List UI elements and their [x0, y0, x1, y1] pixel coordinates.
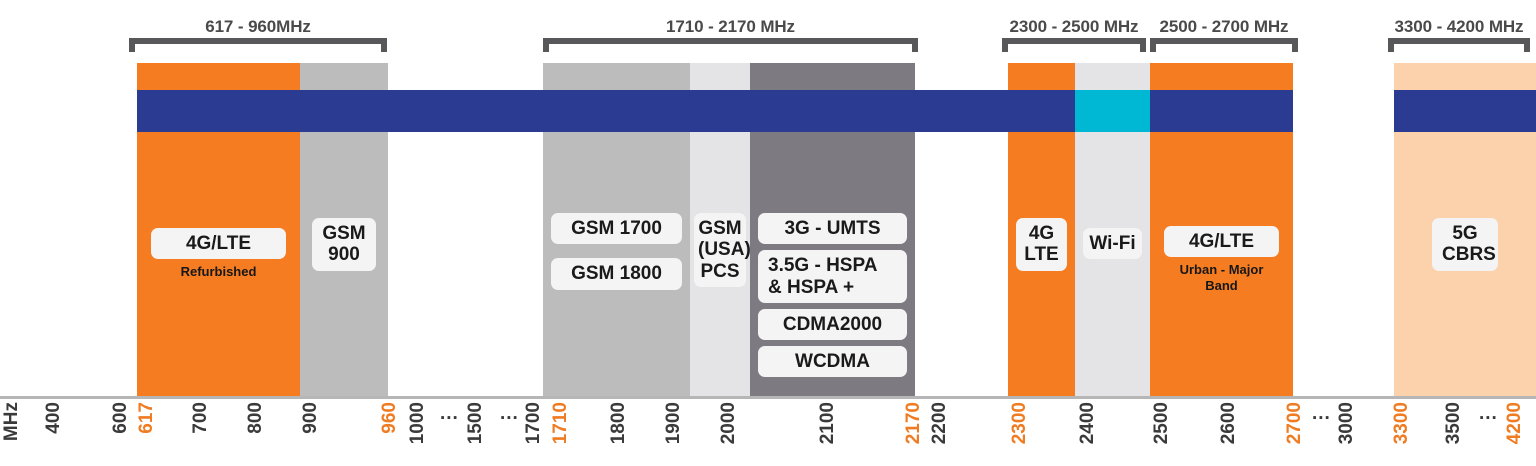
- band-label-gsm-900: GSM 900: [312, 218, 376, 271]
- axis-tick-2400: 2400: [1078, 402, 1097, 444]
- band-label-stack: 4G/LTE Urban - Major Band: [1150, 226, 1293, 293]
- axis-tick-1700: 1700: [524, 402, 543, 444]
- bracket-1710-2170: 1710 - 2170 MHz: [543, 14, 918, 52]
- band-label-35g-hspa: 3.5G - HSPA & HSPA +: [758, 250, 907, 303]
- spectrum-chart: 617 - 960MHz 1710 - 2170 MHz 2300 - 2500…: [0, 0, 1536, 466]
- band-label-stack: GSM 1700 GSM 1800: [543, 213, 690, 295]
- axis-tick-2170: 2170: [904, 402, 923, 444]
- bracket-label: 617 - 960MHz: [205, 17, 311, 37]
- axis-tick-2000: 2000: [719, 402, 738, 444]
- bracket-shape: [129, 38, 387, 52]
- axis-tick-3000: 3000: [1337, 402, 1356, 444]
- axis-tick-3500: 3500: [1444, 402, 1463, 444]
- band-note-urban-major: Urban - Major Band: [1164, 262, 1279, 293]
- bracket-shape: [1388, 38, 1530, 52]
- band-label-4g-lte-2500: 4G/LTE: [1164, 226, 1279, 257]
- bracket-617-960: 617 - 960MHz: [129, 14, 387, 52]
- bracket-label: 1710 - 2170 MHz: [666, 17, 795, 37]
- bracket-shape: [1150, 38, 1298, 52]
- axis-tick-2300: 2300: [1010, 402, 1029, 444]
- axis-tick-3300: 3300: [1392, 402, 1411, 444]
- bracket-shape: [543, 38, 918, 52]
- band-label-5g-cbrs: 5G CBRS: [1432, 218, 1498, 271]
- axis-tick-1900: 1900: [664, 402, 683, 444]
- axis-tick-617: 617: [137, 402, 156, 434]
- band-label-stack: 4G LTE: [1008, 218, 1075, 276]
- axis-tick-700: 700: [191, 402, 210, 434]
- band-label-4g-lte-2300: 4G LTE: [1016, 218, 1067, 271]
- band-note-refurbished: Refurbished: [151, 264, 286, 279]
- wifi-coverage-stripe: [1075, 90, 1150, 132]
- band-label-4g-lte: 4G/LTE: [151, 228, 286, 259]
- axis-tick-600: 600: [111, 402, 130, 434]
- band-label-stack: 5G CBRS: [1394, 218, 1536, 276]
- axis-tick-2200: 2200: [930, 402, 949, 444]
- band-label-wifi: Wi-Fi: [1083, 228, 1142, 259]
- axis-tick-1000: 1000: [408, 402, 427, 444]
- axis-tick-900: 900: [301, 402, 320, 434]
- band-label-wcdma: WCDMA: [758, 346, 907, 377]
- axis-unit-label: MHz: [2, 402, 21, 441]
- bracket-label: 2500 - 2700 MHz: [1160, 17, 1289, 37]
- band-label-gsm-1700: GSM 1700: [551, 213, 682, 244]
- axis-line: [0, 396, 1536, 399]
- axis-tick-ellipsis: ...: [500, 404, 519, 423]
- band-label-stack: GSM (USA) PCS: [690, 213, 750, 292]
- axis-tick-1500: 1500: [466, 402, 485, 444]
- band-label-3g-umts: 3G - UMTS: [758, 213, 907, 244]
- bracket-shape: [1002, 38, 1146, 52]
- axis-tick-2700: 2700: [1285, 402, 1304, 444]
- axis-tick-ellipsis: ...: [440, 404, 459, 423]
- axis-tick-ellipsis: ...: [1479, 404, 1498, 423]
- bracket-3300-4200: 3300 - 4200 MHz: [1388, 14, 1530, 52]
- band-label-gsm-1800: GSM 1800: [551, 258, 682, 289]
- axis-tick-1710: 1710: [551, 402, 570, 444]
- cellular-coverage-stripe-5g: [1394, 90, 1536, 132]
- axis-tick-2600: 2600: [1219, 402, 1238, 444]
- bracket-label: 3300 - 4200 MHz: [1395, 17, 1524, 37]
- axis-tick-2100: 2100: [818, 402, 837, 444]
- band-label-stack: Wi-Fi: [1075, 228, 1150, 264]
- axis-tick-4200: 4200: [1505, 402, 1524, 444]
- bracket-label: 2300 - 2500 MHz: [1010, 17, 1139, 37]
- bracket-2500-2700: 2500 - 2700 MHz: [1150, 14, 1298, 52]
- band-label-gsm-pcs: GSM (USA) PCS: [694, 213, 746, 287]
- band-label-cdma2000: CDMA2000: [758, 309, 907, 340]
- band-label-stack: 3G - UMTS 3.5G - HSPA & HSPA + CDMA2000 …: [750, 213, 915, 382]
- axis-tick-400: 400: [44, 402, 63, 434]
- axis-tick-ellipsis: ...: [1312, 404, 1331, 423]
- axis-tick-960: 960: [380, 402, 399, 434]
- band-label-stack: 4G/LTE Refurbished: [137, 228, 300, 280]
- axis-tick-1800: 1800: [609, 402, 628, 444]
- axis-tick-2500: 2500: [1152, 402, 1171, 444]
- band-label-stack: GSM 900: [300, 218, 388, 276]
- bracket-2300-2500: 2300 - 2500 MHz: [1002, 14, 1146, 52]
- axis-tick-800: 800: [246, 402, 265, 434]
